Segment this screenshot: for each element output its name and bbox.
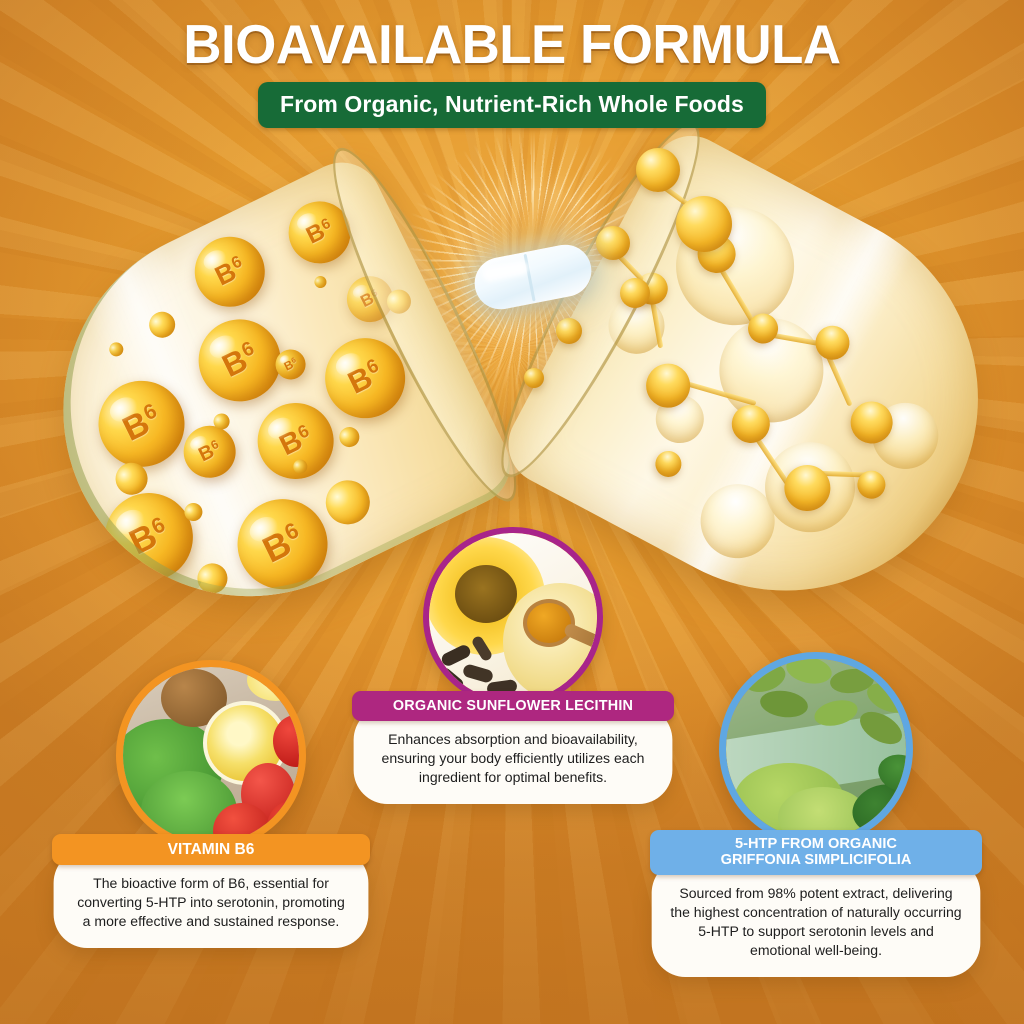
lemon-slice	[247, 667, 299, 701]
griffonia-badge: 5-HTP FROM ORGANIC GRIFFONIA SIMPLICIFOL…	[650, 830, 982, 875]
griffonia-seeds-photo	[719, 652, 913, 846]
ingredient-card-sunflower-lecithin[interactable]: ORGANIC SUNFLOWER LECITHIN Enhances abso…	[352, 527, 674, 804]
griffonia-pod	[784, 659, 834, 687]
b6-bubble	[318, 473, 377, 532]
molecule-node-floating	[524, 368, 544, 388]
subtitle-badge: From Organic, Nutrient-Rich Whole Foods	[258, 82, 766, 128]
sunflower-seed	[436, 665, 465, 692]
infographic-poster: BIOAVAILABLE FORMULA From Organic, Nutri…	[0, 0, 1024, 1024]
molecule-node	[651, 446, 686, 481]
header: BIOAVAILABLE FORMULA From Organic, Nutri…	[0, 16, 1024, 128]
sunflower-lecithin-badge: ORGANIC SUNFLOWER LECITHIN	[352, 691, 674, 721]
ingredient-card-5htp-griffonia[interactable]: 5-HTP FROM ORGANIC GRIFFONIA SIMPLICIFOL…	[650, 652, 982, 977]
molecule-node-floating	[636, 148, 680, 192]
sunflower-seed	[462, 663, 494, 684]
griffonia-description: Sourced from 98% potent extract, deliver…	[652, 859, 981, 977]
sunflower-center	[455, 565, 517, 623]
vitamin-b6-photo	[116, 660, 306, 850]
molecule-node-floating	[676, 196, 732, 252]
sunflower-lecithin-photo	[423, 527, 603, 707]
ingredient-card-vitamin-b6[interactable]: VITAMIN B6 The bioactive form of B6, ess…	[52, 660, 370, 948]
page-title: BIOAVAILABLE FORMULA	[20, 16, 1003, 73]
molecule-node-floating	[620, 278, 650, 308]
b6-bubble	[336, 424, 363, 451]
molecule-node-floating	[556, 318, 582, 344]
griffonia-badge-line1: 5-HTP FROM ORGANIC	[735, 836, 897, 852]
b6-droplet: B6	[183, 225, 277, 319]
griffonia-pod	[758, 688, 809, 720]
molecule-node-floating	[596, 226, 630, 260]
vitamin-b6-badge: VITAMIN B6	[52, 834, 370, 865]
griffonia-badge-line2: GRIFFONIA SIMPLICIFOLIA	[721, 852, 912, 868]
b6-bubble	[312, 274, 328, 290]
wooden-scoop	[523, 599, 575, 647]
